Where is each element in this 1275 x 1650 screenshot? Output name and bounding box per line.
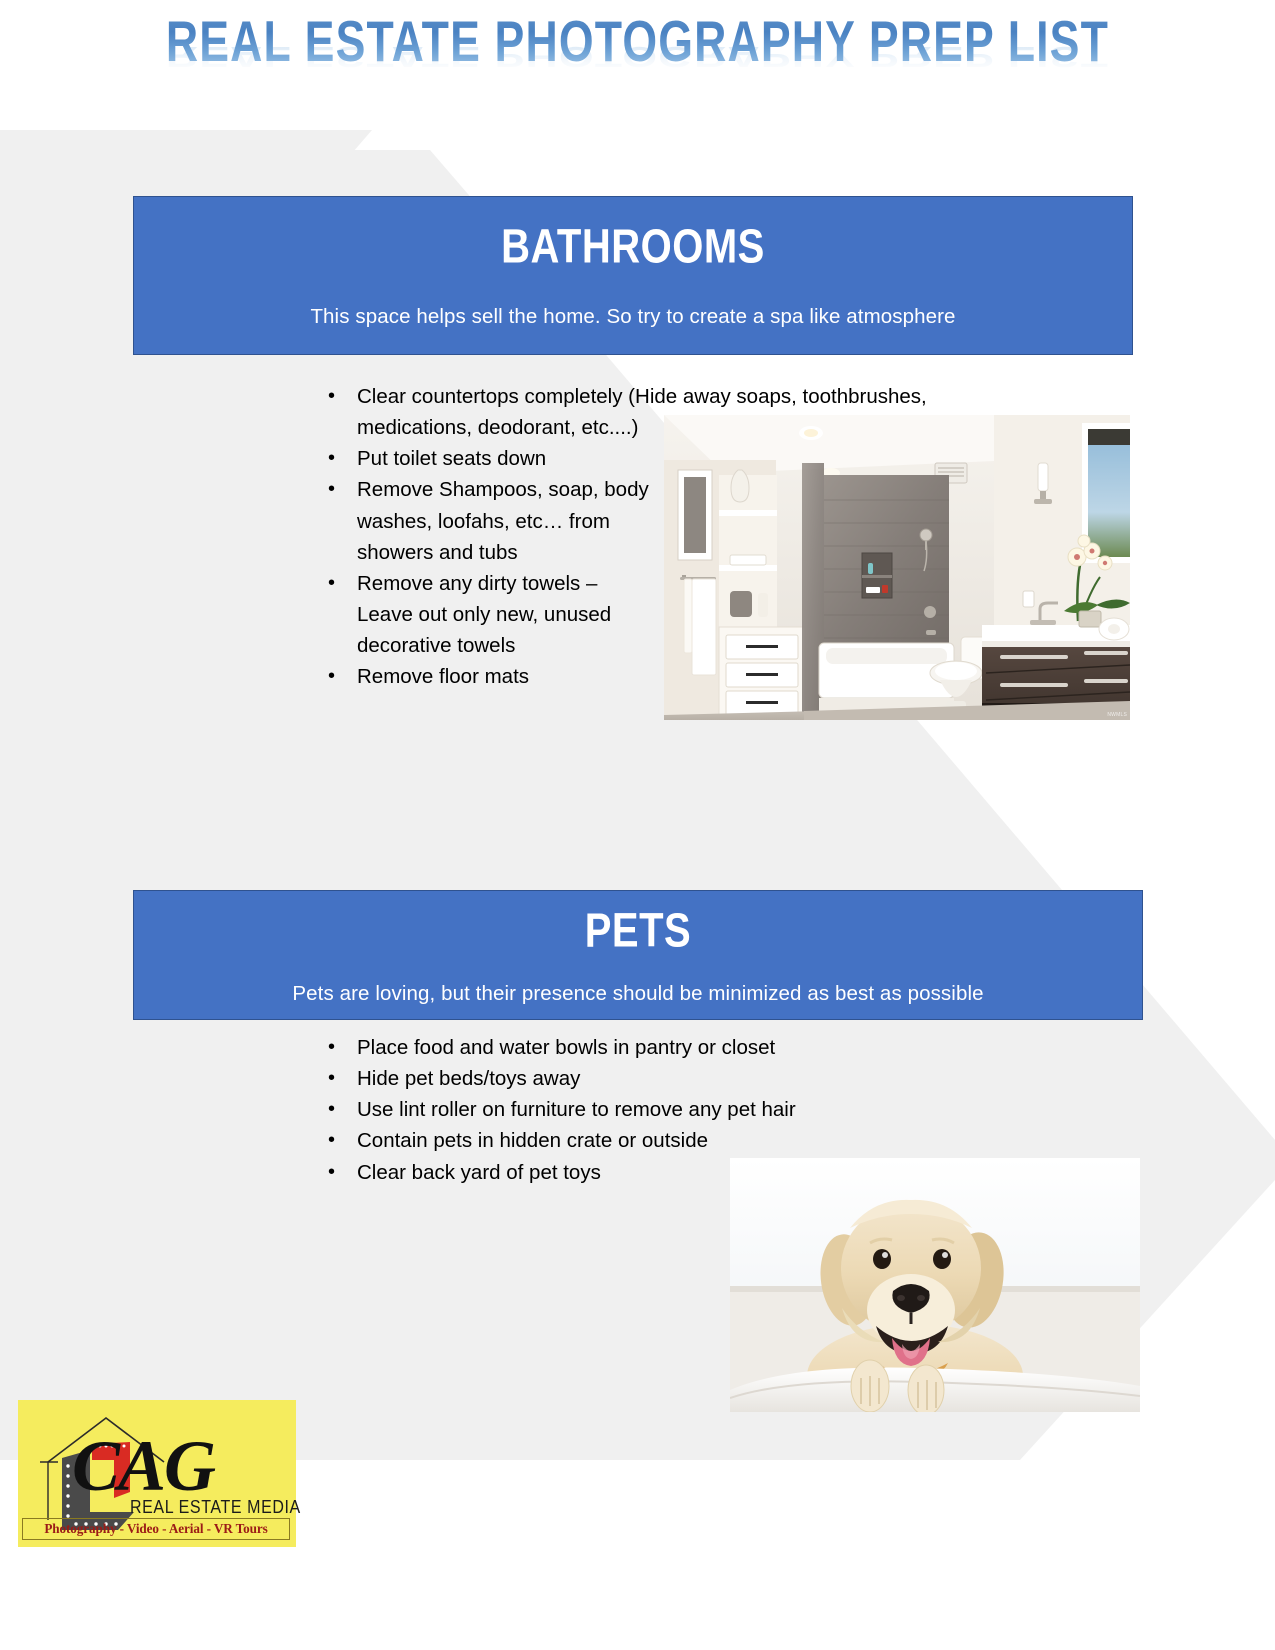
bullet-icon: •	[328, 1157, 335, 1187]
bullet-icon: •	[328, 568, 335, 598]
page-title-wrap: REAL ESTATE PHOTOGRAPHY PREP LIST	[0, 12, 1275, 107]
logo-company-name: REAL ESTATE MEDIA	[130, 1498, 301, 1519]
list-item-label: Hide pet beds/toys away	[357, 1067, 580, 1090]
logo-tagline: Photography - Video - Aerial - VR Tours	[22, 1518, 290, 1540]
bullet-icon: •	[328, 1063, 335, 1093]
logo[interactable]: CAG REAL ESTATE MEDIA Photography - Vide…	[18, 1400, 296, 1547]
section-subheading-bathrooms: This space helps sell the home. So try t…	[134, 305, 1132, 329]
section-subheading-pets: Pets are loving, but their presence shou…	[134, 982, 1142, 1006]
list-item-label: Place food and water bowls in pantry or …	[357, 1036, 775, 1059]
list-item: • Contain pets in hidden crate or outsid…	[310, 1125, 1010, 1156]
bullet-icon: •	[328, 443, 335, 473]
list-item: • Hide pet beds/toys away	[310, 1063, 1010, 1094]
page-title: REAL ESTATE PHOTOGRAPHY PREP LIST	[166, 12, 1109, 69]
photo-watermark: NWMLS	[1107, 713, 1127, 718]
section-heading-bathrooms: BATHROOMS	[134, 223, 1132, 271]
list-item: • Put toilet seats down	[310, 443, 657, 474]
list-item-label: Contain pets in hidden crate or outside	[357, 1129, 708, 1152]
list-item: • Use lint roller on furniture to remove…	[310, 1094, 1010, 1125]
list-item: • Remove floor mats	[310, 661, 657, 692]
logo-monogram: CAG	[72, 1430, 214, 1502]
section-banner-pets: PETS Pets are loving, but their presence…	[133, 890, 1143, 1020]
puppy-photo	[730, 1158, 1140, 1412]
list-item-label: Clear back yard of pet toys	[357, 1161, 601, 1184]
list-item: • Place food and water bowls in pantry o…	[310, 1032, 1010, 1063]
bullet-icon: •	[328, 661, 335, 691]
list-item-label: Remove any dirty towels – Leave out only…	[357, 572, 611, 657]
puppy-photo-graphic	[730, 1158, 1140, 1412]
bullet-icon: •	[328, 1094, 335, 1124]
bullet-icon: •	[328, 1032, 335, 1062]
bullet-icon: •	[328, 1125, 335, 1155]
list-item-label: Remove Shampoos, soap, body washes, loof…	[357, 478, 649, 563]
bathroom-photo-graphic	[664, 415, 1130, 720]
section-banner-bathrooms: BATHROOMS This space helps sell the home…	[133, 196, 1133, 355]
list-item-label: Remove floor mats	[357, 665, 529, 688]
bullet-icon: •	[328, 474, 335, 504]
list-item-label: Put toilet seats down	[357, 447, 546, 470]
section-heading-pets: PETS	[134, 907, 1142, 955]
bullet-icon: •	[328, 381, 335, 411]
bathroom-photo: NWMLS	[664, 415, 1130, 720]
list-item: • Remove any dirty towels – Leave out on…	[310, 568, 657, 661]
list-item: • Remove Shampoos, soap, body washes, lo…	[310, 474, 657, 567]
list-item-label: Use lint roller on furniture to remove a…	[357, 1098, 796, 1121]
